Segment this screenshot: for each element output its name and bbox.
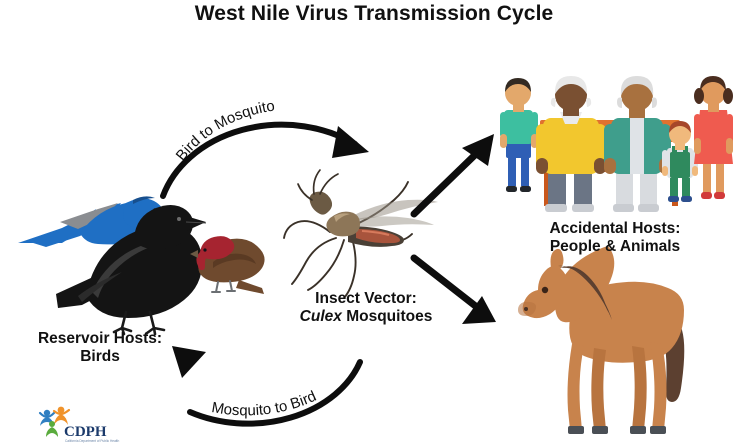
culex-genus-name: Culex	[300, 308, 342, 325]
park-bench	[540, 120, 686, 206]
seated-older-man	[536, 76, 606, 212]
bird-to-mosquito-arrow	[163, 125, 369, 196]
page-title: West Nile Virus Transmission Cycle	[0, 2, 748, 26]
house-finch-bird	[190, 236, 265, 294]
cdph-logo: CDPH California Department of Public Hea…	[38, 404, 134, 444]
bird-to-mosquito-label: Bird to Mosquito	[173, 98, 276, 165]
people-on-bench-group	[500, 76, 733, 212]
crow-bird	[56, 205, 206, 334]
diagram-canvas: West Nile Virus Transmission Cycle	[0, 0, 748, 444]
reservoir-hosts-caption: Reservoir Hosts: Birds	[0, 330, 200, 367]
standing-girl	[694, 76, 733, 199]
accidental-hosts-caption-line2: People & Animals	[512, 238, 718, 256]
reservoir-hosts-caption-line1: Reservoir Hosts:	[0, 330, 200, 348]
culex-mosquito	[284, 170, 438, 298]
reservoir-hosts-caption-line2: Birds	[0, 348, 200, 366]
insect-vector-caption: Insect Vector: Culex Mosquitoes	[268, 290, 464, 327]
seated-older-woman	[604, 76, 671, 212]
blue-jay-bird	[18, 196, 176, 257]
cdph-subtext: California Department of Public Health	[65, 439, 119, 443]
mosquito-to-bird-label: Mosquito to Bird	[210, 388, 319, 420]
insect-vector-caption-line2: Culex Mosquitoes	[268, 308, 464, 326]
mosquitoes-word: Mosquitoes	[342, 308, 432, 325]
insect-vector-caption-line1: Insect Vector:	[268, 290, 464, 308]
accidental-hosts-caption: Accidental Hosts: People & Animals	[512, 220, 718, 257]
standing-boy	[500, 78, 538, 192]
accidental-hosts-caption-line1: Accidental Hosts:	[512, 220, 718, 238]
mosquito-to-people-arrow	[414, 134, 494, 214]
mosquito-to-bird-arrow	[172, 346, 360, 424]
small-boy	[662, 121, 698, 202]
horse	[518, 246, 684, 434]
cdph-wordmark: CDPH	[64, 424, 107, 440]
